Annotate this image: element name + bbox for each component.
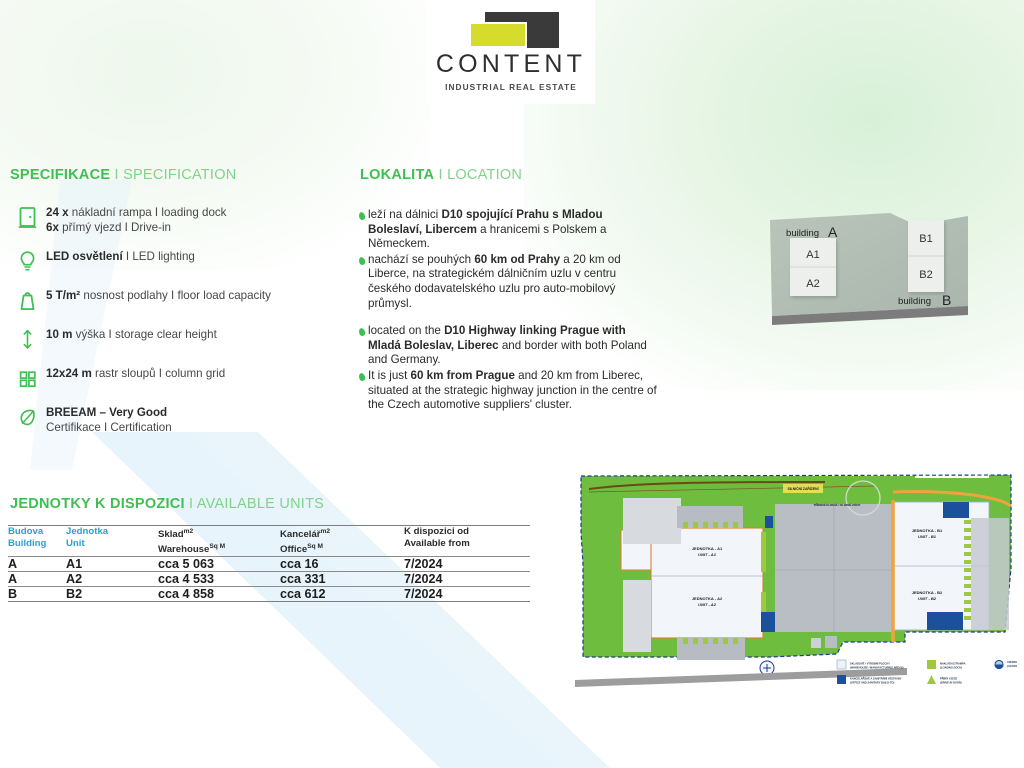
specification-list: 24 x nákladní rampa I loading dock 6x př… [8,205,338,450]
specification-heading: SPECIFIKACE I SPECIFICATION [10,167,236,183]
col-head-cz-unit: m2 [184,528,194,535]
leaf-bullet-icon [358,210,368,222]
spec-bold-4: 10 m [46,328,72,341]
leaf-bullet-icon [358,326,368,338]
plot-label-building-a-letter: A [828,224,838,240]
plot-unit-a1: A1 [806,249,819,261]
spec-item-text: 12x24 m rastr sloupů I column grid [46,366,225,382]
spec-item-text: 24 x nákladní rampa I loading dock 6x př… [46,205,226,235]
plot-label-building-b-letter: B [942,292,951,308]
column-header-available-from: K dispozici od Available from [404,526,530,556]
col-head-cz: Sklad [158,529,184,540]
available-units-heading-sep: I [185,496,197,512]
spec-item-floor-load: 5 T/m² nosnost podlahy I floor load capa… [8,288,338,312]
table-row[interactable]: A A1 cca 5 063 cca 16 7/2024 [8,557,530,571]
location-bullets-cz: leží na dálnici D10 spojující Prahu s Ml… [358,208,658,311]
cell-office: cca 16 [280,557,404,571]
company-logo: CONTENT INDUSTRIAL REAL ESTATE [427,0,595,104]
legend-label-en-1: (OFFICE AND SANITARY BUILD-TO) [850,680,894,684]
col-head-en-unit: Sq M [209,543,225,550]
spec-item-breeam: BREEAM – Very Good Certifikace I Certifi… [8,405,338,435]
specification-heading-en: SPECIFICATION [123,167,236,183]
spec-bold-6: BREEAM – Very Good [46,406,167,419]
site-unit-label-a2-en: UNIT - A2 [698,602,717,607]
column-header-unit: Jednotka Unit [66,526,158,556]
spec-bold-5: 12x24 m [46,367,92,380]
col-head-cz-unit: m2 [321,528,331,535]
legend-label-en-4: (ACCESS GATE) [1007,664,1017,668]
location-bullet: nachází se pouhých 60 km od Prahy a 20 k… [358,253,658,311]
site-unit-label-a1-cz: JEDNOTKA - A1 [692,546,723,551]
spec-bold-1: 24 x [46,206,69,219]
cell-warehouse: cca 4 533 [158,572,280,586]
plot-unit-a2: A2 [806,278,819,290]
cell-office: cca 612 [280,587,404,601]
table-header-row: Budova Building Jednotka Unit Skladm2 Wa… [8,526,530,556]
col-head-cz: Budova [8,526,66,538]
specification-heading-cz: SPECIFIKACE [10,167,110,183]
plot-label-building-b-prefix: building [898,296,931,307]
col-head-en-unit: Sq M [307,543,323,550]
plot-unit-b1: B1 [919,233,932,245]
spec-bold-3: 5 T/m² [46,289,80,302]
available-units-table: Budova Building Jednotka Unit Skladm2 Wa… [8,525,530,602]
table-row[interactable]: B B2 cca 4 858 cca 612 7/2024 [8,587,530,601]
legend-label-cz-0: SKLADOVÉ / VÝROBNÍ PLOCHY [850,661,890,666]
cell-unit: B2 [66,587,158,601]
column-grid-icon [8,366,46,390]
col-head-cz: Kancelář [280,529,321,540]
location-bullet: It is just 60 km from Prague and 20 km f… [358,369,658,413]
spec-rest-3: nosnost podlahy I floor load capacity [80,289,271,302]
height-arrow-icon [8,327,46,351]
available-units-heading-cz: JEDNOTKY K DISPOZICI [10,496,185,512]
spec-item-text: BREEAM – Very Good Certifikace I Certifi… [46,405,172,435]
legend-label-en-3: (DRIVE-IN DOOR) [940,680,962,684]
leaf-bullet-icon [358,371,368,383]
table-bottom-rule [8,601,530,602]
site-unit-label-b2-cz: JEDNOTKA - B2 [912,590,943,595]
column-header-building: Budova Building [8,526,66,556]
legend-label-en-2: (LOADING DOCK) [940,665,962,669]
plot-label-building-a-prefix: building [786,228,819,239]
location-bullet: leží na dálnici D10 spojující Prahu s Ml… [358,208,658,252]
site-note-2: TŘÍDENÍ KLIDNÁ / KLIDNÉ ZÓNY [814,502,861,507]
cell-office: cca 331 [280,572,404,586]
spec-item-loading-dock: 24 x nákladní rampa I loading dock 6x př… [8,205,338,235]
spec-item-text: LED osvětlení I LED lighting [46,249,195,265]
location-heading-sep: I [434,167,447,183]
specification-heading-sep: I [110,167,123,183]
location-heading-en: LOCATION [447,167,522,183]
cell-available-from: 7/2024 [404,557,530,571]
cell-building: B [8,587,66,601]
legend-label-en-0: (WAREHOUSE / MANUFACTURING AREAS) [850,665,904,669]
location-heading-cz: LOKALITA [360,167,434,183]
location-bullet: located on the D10 Highway linking Pragu… [358,324,658,368]
location-bullet-text: It is just 60 km from Prague and 20 km f… [368,369,658,413]
logo-mark-icon [463,12,559,48]
location-bullet-text: leží na dálnici D10 spojující Prahu s Ml… [368,208,658,252]
available-units-heading: JEDNOTKY K DISPOZICI I AVAILABLE UNITS [10,496,324,512]
column-header-office: Kancelářm2 OfficeSq M [280,526,404,556]
spec-rest-6: Certifikace I Certification [46,421,172,434]
spec-rest-4: výška I storage clear height [72,328,216,341]
location-content: leží na dálnici D10 spojující Prahu s Ml… [358,208,658,426]
weight-icon [8,288,46,312]
spec-item-clear-height: 10 m výška I storage clear height [8,327,338,351]
site-unit-label-b1-en: UNIT - B1 [918,534,937,539]
col-head-en: Office [280,544,307,555]
col-head-cz: K dispozici od [404,526,530,538]
legend-label-cz-4: VJEZDOVÁ BRÁNA [1007,659,1017,664]
spec-item-column-grid: 12x24 m rastr sloupů I column grid [8,366,338,390]
column-header-warehouse: Skladm2 WarehouseSq M [158,526,280,556]
col-head-en: Unit [66,538,158,550]
col-head-en: Warehouse [158,544,209,555]
cell-warehouse: cca 5 063 [158,557,280,571]
door-icon [8,205,46,229]
cell-building: A [8,572,66,586]
legend-label-cz-3: PŘÍMÝ VJEZD [940,676,957,681]
site-note-1: SILNIČNÍ ZAŘÍZENÍ [787,486,819,491]
location-heading: LOKALITA I LOCATION [360,167,522,183]
location-bullet-text: nachází se pouhých 60 km od Prahy a 20 k… [368,253,658,311]
leaf-icon [8,405,46,429]
site-unit-label-a1-en: UNIT - A1 [698,552,717,557]
leaf-bullet-icon [358,255,368,267]
site-unit-label-a2-cz: JEDNOTKA - A2 [692,596,723,601]
cell-building: A [8,557,66,571]
location-bullet-text: located on the D10 Highway linking Pragu… [368,324,658,368]
spec-bold-1b: 6x [46,221,59,234]
spec-rest-1: nákladní rampa I loading dock [69,206,227,219]
site-unit-label-b1-cz: JEDNOTKA - B1 [912,528,943,533]
logo-tagline: INDUSTRIAL REAL ESTATE [445,82,577,92]
col-head-en: Building [8,538,66,550]
site-plan-map[interactable]: JEDNOTKA - A1 UNIT - A1 JEDNOTKA - A2 UN… [575,472,1017,697]
lightbulb-icon [8,249,46,273]
spec-bold-2: LED osvětlení [46,250,123,263]
spec-rest-1b: přímý vjezd I Drive-in [59,221,171,234]
spec-rest-2: I LED lighting [123,250,195,263]
spec-item-text: 10 m výška I storage clear height [46,327,217,343]
col-head-en: Available from [404,538,530,550]
cell-available-from: 7/2024 [404,587,530,601]
logo-wordmark: CONTENT [436,52,586,77]
spec-rest-5: rastr sloupů I column grid [92,367,225,380]
plot-unit-b2: B2 [919,269,932,281]
spec-item-led-lighting: LED osvětlení I LED lighting [8,249,338,273]
legend-label-cz-2: NAKLÁDACÍ RAMPA [940,661,966,666]
site-unit-label-b2-en: UNIT - B2 [918,596,937,601]
brochure-page: CONTENT INDUSTRIAL REAL ESTATE SPECIFIKA… [0,0,1024,768]
cell-unit: A1 [66,557,158,571]
spec-item-text: 5 T/m² nosnost podlahy I floor load capa… [46,288,271,304]
cell-available-from: 7/2024 [404,572,530,586]
available-units-heading-en: AVAILABLE UNITS [197,496,324,512]
plot-diagram: A1 A2 B1 B2 building A building B [750,186,1000,326]
table-row[interactable]: A A2 cca 4 533 cca 331 7/2024 [8,572,530,586]
cell-unit: A2 [66,572,158,586]
col-head-cz: Jednotka [66,526,158,538]
location-bullets-en: located on the D10 Highway linking Pragu… [358,324,658,413]
cell-warehouse: cca 4 858 [158,587,280,601]
